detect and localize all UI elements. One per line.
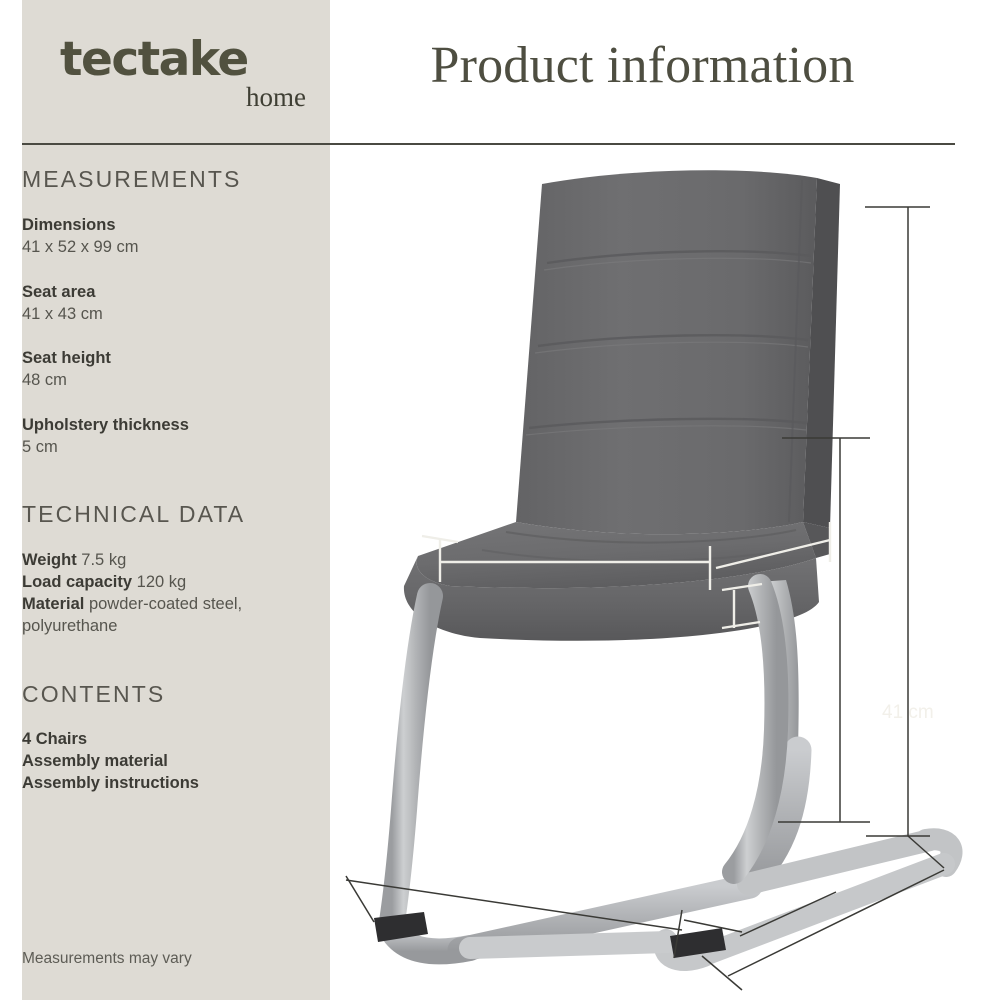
brand-name: tectake	[60, 36, 310, 84]
spec-value-seat-area: 41 x 43 cm	[22, 305, 103, 324]
dimension-label-seat-width: 41 cm	[882, 702, 934, 724]
spec-label-dimensions: Dimensions	[22, 216, 116, 235]
spec-label-seat-height: Seat height	[22, 349, 111, 368]
spec-label-seat-area: Seat area	[22, 283, 95, 302]
section-heading-technical-data: TECHNICAL DATA	[22, 501, 245, 528]
footnote-measurements-may-vary: Measurements may vary	[22, 950, 192, 968]
tech-value-weight: 7.5 kg	[81, 551, 126, 569]
dimext-base-depth-bottom	[702, 956, 742, 990]
tech-row-weight: Weight 7.5 kg	[22, 550, 312, 572]
sidebar-panel	[22, 0, 330, 1000]
spec-value-upholstery-thickness: 5 cm	[22, 438, 58, 457]
frame-base-front-runner	[470, 942, 668, 948]
spec-label-upholstery-thickness: Upholstery thickness	[22, 416, 189, 435]
section-heading-contents: CONTENTS	[22, 681, 165, 708]
chair-illustration-svg	[330, 150, 1000, 1000]
product-information-sheet: tectake home Product information MEASURE…	[0, 0, 1000, 1000]
brand-logo: tectake home	[60, 36, 310, 126]
tech-label-load-capacity: Load capacity	[22, 573, 132, 591]
backrest-panel	[516, 170, 817, 534]
tech-label-weight: Weight	[22, 551, 77, 569]
tech-row-material: Material powder-coated steel, polyuretha…	[22, 594, 312, 637]
spec-value-seat-height: 48 cm	[22, 371, 67, 390]
tech-row-load-capacity: Load capacity 120 kg	[22, 572, 312, 594]
section-heading-measurements: MEASUREMENTS	[22, 166, 241, 193]
header-divider	[22, 143, 955, 145]
contents-item-chairs: 4 Chairs	[22, 730, 87, 749]
contents-item-assembly-material: Assembly material	[22, 752, 168, 771]
tech-label-material: Material	[22, 595, 84, 613]
frame-front-left-leg	[392, 596, 430, 922]
page-title: Product information	[330, 34, 955, 98]
contents-item-assembly-instructions: Assembly instructions	[22, 774, 199, 793]
tech-value-load-capacity: 120 kg	[137, 573, 187, 591]
spec-value-dimensions: 41 x 52 x 99 cm	[22, 238, 138, 257]
chair-diagram: 41 cm 43 cm 5 cm 99 cm 48 cm 41 cm 52 cm	[330, 150, 1000, 1000]
